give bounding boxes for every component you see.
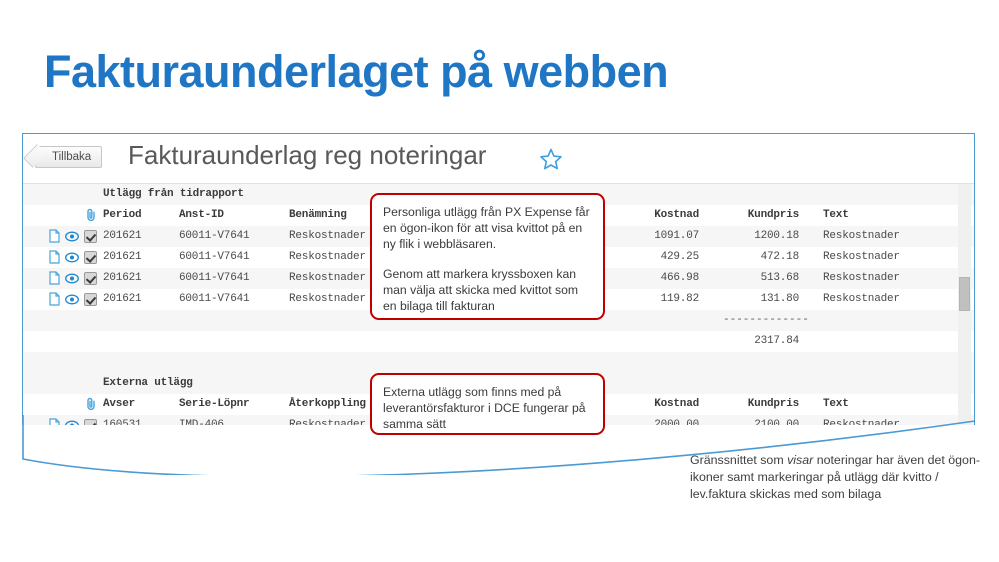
column-header-kundpris: Kundpris [723,394,799,415]
cell-benamning: Reskostnader [289,226,366,247]
cell-avser: 160531 [103,415,141,425]
cell-anst-id: 60011-V7641 [179,289,249,310]
cell-text: Reskostnader [823,247,900,268]
cell-text: Reskostnader [823,415,900,425]
column-header-serie-lopnr: Serie-Löpnr [179,394,249,415]
app-header: Tillbaka Fakturaunderlag reg noteringar [23,134,974,184]
eye-icon[interactable] [65,231,79,242]
row-icon-group[interactable] [49,292,97,306]
document-icon[interactable] [49,229,60,243]
page-title: Fakturaunderlaget på webben [44,47,668,97]
bottom-caption: Gränssnittet som visar noteringar har äv… [690,452,990,503]
scrollbar-thumb[interactable] [959,277,970,311]
document-icon[interactable] [49,250,60,264]
cell-text: Reskostnader [823,226,900,247]
cell-anst-id: 60011-V7641 [179,268,249,289]
cell-text: Reskostnader [823,289,900,310]
cell-anst-id: 60011-V7641 [179,247,249,268]
back-button-label: Tillbaka [52,151,91,163]
document-icon[interactable] [49,292,60,306]
cell-kundpris: 2100.00 [723,415,799,425]
row-icon-group[interactable] [49,229,97,243]
section-label-externa: Externa utlägg [103,373,193,394]
total-kundpris: 2317.84 [723,331,799,352]
cell-aterkoppling: Reskostnader [289,415,366,425]
column-header-avser: Avser [103,394,135,415]
eye-icon[interactable] [65,252,79,263]
column-header-anst-id: Anst-ID [179,205,224,226]
cell-benamning: Reskostnader [289,289,366,310]
checkbox-checked-icon[interactable] [84,251,97,264]
cell-anst-id: 60011-V7641 [179,226,249,247]
column-header-kostnad: Kostnad [621,205,699,226]
cell-period: 201621 [103,247,141,268]
cell-period: 201621 [103,226,141,247]
section-label-utlagg: Utlägg från tidrapport [103,184,244,205]
callout-personliga-utlagg: Personliga utlägg från PX Expense får en… [370,193,605,320]
callout-1-paragraph-2: Genom att markera kryssboxen kan man väl… [383,266,592,314]
document-icon[interactable] [49,418,60,425]
vertical-scrollbar[interactable] [958,184,971,425]
cell-kundpris: 513.68 [723,268,799,289]
column-header-text: Text [823,205,849,226]
eye-icon[interactable] [65,294,79,305]
app-title: Fakturaunderlag reg noteringar [128,140,486,171]
row-icon-group[interactable] [49,418,97,425]
column-header-aterkoppling: Återkoppling [289,394,366,415]
column-header-kundpris: Kundpris [723,205,799,226]
eye-icon[interactable] [65,273,79,284]
back-button[interactable]: Tillbaka [35,146,102,168]
cell-kundpris: 472.18 [723,247,799,268]
checkbox-checked-icon[interactable] [84,230,97,243]
callout-1-paragraph-1: Personliga utlägg från PX Expense får en… [383,204,592,252]
callout-externa-utlagg: Externa utlägg som finns med på leverant… [370,373,605,435]
cell-period: 201621 [103,268,141,289]
cell-kostnad: 466.98 [621,268,699,289]
row-icon-group[interactable] [49,250,97,264]
cell-kundpris: 1200.18 [723,226,799,247]
cell-kostnad: 1091.07 [621,226,699,247]
total-separator: ------------- [723,310,809,331]
cell-benamning: Reskostnader [289,268,366,289]
caption-part-1: Gränssnittet som [690,453,787,467]
cell-kostnad: 429.25 [621,247,699,268]
column-header-benamning: Benämning [289,205,347,226]
caption-emphasis: visar [787,453,813,467]
cell-kostnad: 119.82 [621,289,699,310]
column-header-kostnad: Kostnad [621,394,699,415]
star-icon[interactable] [539,147,563,171]
checkbox-checked-icon[interactable] [84,293,97,306]
checkbox-checked-icon[interactable] [84,272,97,285]
cell-text: Reskostnader [823,268,900,289]
cell-period: 201621 [103,289,141,310]
cell-serie-lopnr: IMD-406 [179,415,224,425]
eye-icon[interactable] [65,420,79,426]
callout-2-paragraph-1: Externa utlägg som finns med på leverant… [383,384,592,432]
cell-kundpris: 131.80 [723,289,799,310]
column-header-period: Period [103,205,141,226]
document-icon[interactable] [49,271,60,285]
table-total-row: 2317.84 [23,331,974,352]
paperclip-icon [85,397,101,411]
row-icon-group[interactable] [49,271,97,285]
cell-kostnad: 2000.00 [621,415,699,425]
checkbox-checked-icon[interactable] [84,419,97,426]
column-header-text: Text [823,394,849,415]
paperclip-icon [85,208,101,222]
cell-benamning: Reskostnader [289,247,366,268]
spacer-row [23,352,974,373]
